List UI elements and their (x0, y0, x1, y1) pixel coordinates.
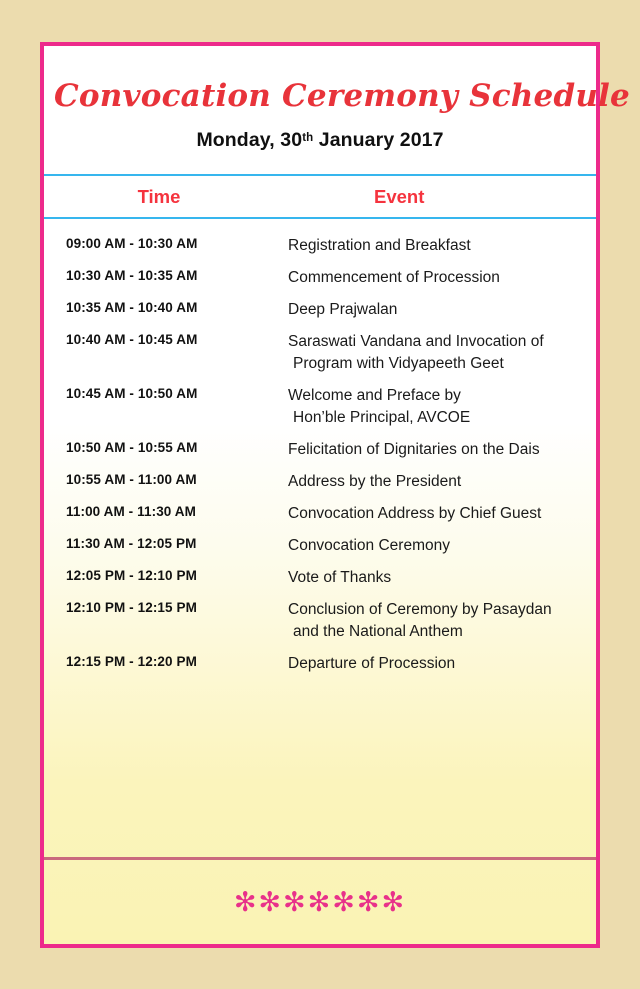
poster-date-superscript: th (302, 132, 313, 144)
cell-time: 10:35 AM - 10:40 AM (44, 299, 274, 317)
cell-event-line-1: Convocation Address by Chief Guest (288, 505, 541, 522)
cell-event: Saraswati Vandana and Invocation ofProgr… (274, 331, 596, 375)
cell-time: 12:10 PM - 12:15 PM (44, 599, 274, 617)
cell-event-line-2: and the National Anthem (288, 621, 588, 643)
cell-event: Deep Prajwalan (274, 299, 596, 321)
cell-event: Felicitation of Dignitaries on the Dais (274, 439, 596, 461)
table-body: 09:00 AM - 10:30 AMRegistration and Brea… (44, 219, 596, 857)
cell-event-line-1: Registration and Breakfast (288, 237, 471, 254)
table-row: 10:35 AM - 10:40 AMDeep Prajwalan (44, 294, 596, 326)
cell-time: 09:00 AM - 10:30 AM (44, 235, 274, 253)
column-header-event: Event (322, 186, 596, 208)
table-row: 10:45 AM - 10:50 AMWelcome and Preface b… (44, 380, 596, 434)
cell-event-line-2: Program with Vidyapeeth Geet (288, 353, 588, 375)
cell-event-line-1: Vote of Thanks (288, 569, 391, 586)
cell-event: Commencement of Procession (274, 267, 596, 289)
cell-event: Address by the President (274, 471, 596, 493)
cell-event: Conclusion of Ceremony by Pasaydanand th… (274, 599, 596, 643)
cell-event-line-1: Convocation Ceremony (288, 537, 450, 554)
table-row: 11:30 AM - 12:05 PMConvocation Ceremony (44, 530, 596, 562)
table-row: 10:55 AM - 11:00 AMAddress by the Presid… (44, 466, 596, 498)
cell-event: Convocation Ceremony (274, 535, 596, 557)
schedule-table: Time Event 09:00 AM - 10:30 AMRegistrati… (44, 174, 596, 857)
table-header-row: Time Event (44, 174, 596, 219)
cell-event-line-1: Address by the President (288, 473, 461, 490)
schedule-poster: Convocation Ceremony Schedule Monday, 30… (40, 42, 600, 948)
flower-asterisk-icon: ✻✻✻✻✻✻✻ (234, 889, 406, 916)
column-header-time: Time (44, 186, 322, 208)
cell-event-line-1: Felicitation of Dignitaries on the Dais (288, 441, 540, 458)
cell-event-line-1: Commencement of Procession (288, 269, 500, 286)
cell-event-line-2: Hon’ble Principal, AVCOE (288, 407, 588, 429)
cell-event-line-1: Saraswati Vandana and Invocation of (288, 333, 544, 350)
cell-event-line-1: Deep Prajwalan (288, 301, 397, 318)
table-row: 12:05 PM - 12:10 PMVote of Thanks (44, 562, 596, 594)
poster-date: Monday, 30th January 2017 (44, 129, 596, 152)
cell-time: 12:15 PM - 12:20 PM (44, 653, 274, 671)
poster-date-prefix: Monday, 30 (196, 129, 302, 151)
table-row: 11:00 AM - 11:30 AMConvocation Address b… (44, 498, 596, 530)
poster-date-suffix: January 2017 (313, 129, 443, 151)
cell-event-line-1: Conclusion of Ceremony by Pasaydan (288, 601, 552, 618)
cell-time: 11:30 AM - 12:05 PM (44, 535, 274, 553)
cell-time: 12:05 PM - 12:10 PM (44, 567, 274, 585)
table-row: 10:40 AM - 10:45 AMSaraswati Vandana and… (44, 326, 596, 380)
cell-event: Departure of Procession (274, 653, 596, 675)
cell-event: Registration and Breakfast (274, 235, 596, 257)
cell-event-line-1: Welcome and Preface by (288, 387, 461, 404)
table-row: 12:15 PM - 12:20 PMDeparture of Processi… (44, 648, 596, 680)
cell-time: 10:40 AM - 10:45 AM (44, 331, 274, 349)
cell-time: 10:30 AM - 10:35 AM (44, 267, 274, 285)
cell-time: 10:55 AM - 11:00 AM (44, 471, 274, 489)
cell-time: 10:45 AM - 10:50 AM (44, 385, 274, 403)
table-row: 10:50 AM - 10:55 AMFelicitation of Digni… (44, 434, 596, 466)
cell-event-line-1: Departure of Procession (288, 655, 455, 672)
table-row: 12:10 PM - 12:15 PMConclusion of Ceremon… (44, 594, 596, 648)
cell-time: 10:50 AM - 10:55 AM (44, 439, 274, 457)
table-row: 09:00 AM - 10:30 AMRegistration and Brea… (44, 230, 596, 262)
page-title: Convocation Ceremony Schedule (44, 79, 596, 113)
cell-event: Welcome and Preface byHon’ble Principal,… (274, 385, 596, 429)
cell-event: Vote of Thanks (274, 567, 596, 589)
cell-event: Convocation Address by Chief Guest (274, 503, 596, 525)
poster-footer: ✻✻✻✻✻✻✻ (44, 860, 596, 944)
cell-time: 11:00 AM - 11:30 AM (44, 503, 274, 521)
table-row: 10:30 AM - 10:35 AMCommencement of Proce… (44, 262, 596, 294)
poster-header: Convocation Ceremony Schedule Monday, 30… (44, 46, 596, 152)
